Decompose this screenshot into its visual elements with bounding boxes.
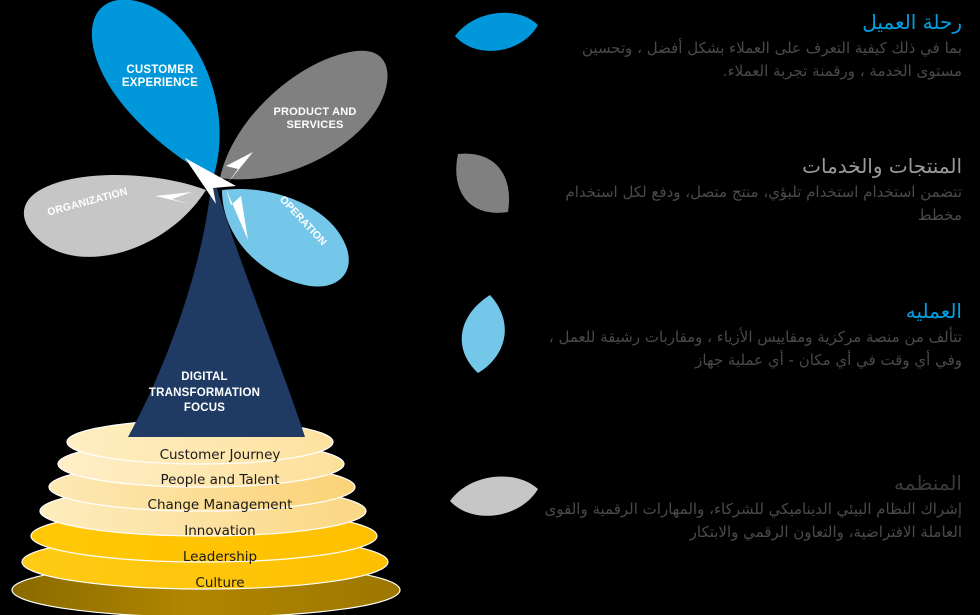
- legend-desc-operation: تتألف من منصة مركزية ومقاييس الأزياء ، و…: [537, 326, 962, 372]
- lens-horizontal-lightgray-icon: [446, 469, 542, 525]
- maturity-stack: [12, 420, 400, 615]
- legend-desc-products-and-services: تتضمن استخدام استخدام تلبؤي، منتج متصل، …: [537, 181, 962, 227]
- lens-tilted-lightblue-icon: [448, 293, 530, 379]
- lens-horizontal-blue-icon: [452, 6, 542, 61]
- legend-item-products-and-services[interactable]: المنتجات والخدمات تتضمن استخدام استخدام …: [440, 140, 980, 285]
- legend-item-operation[interactable]: العمليه تتألف من منصة مركزية ومقاييس الأ…: [440, 285, 980, 455]
- lens-tilted-gray-icon: [448, 148, 526, 226]
- legend-text-products-and-services: المنتجات والخدمات تتضمن استخدام استخدام …: [537, 154, 962, 227]
- legend-text-operation: العمليه تتألف من منصة مركزية ومقاييس الأ…: [537, 299, 962, 372]
- legend-panel: رحلة العميل بما في ذلك كيفية التعرف على …: [440, 0, 980, 615]
- legend-text-organization: المنظمه إشراك النظام البيئي الديناميكي ل…: [537, 471, 962, 544]
- petal-customer-experience[interactable]: [92, 0, 220, 178]
- legend-title-organization: المنظمه: [537, 471, 962, 496]
- legend-item-customer-journey[interactable]: رحلة العميل بما في ذلك كيفية التعرف على …: [440, 0, 980, 140]
- petal-organization[interactable]: [24, 175, 206, 257]
- legend-text-customer-journey: رحلة العميل بما في ذلك كيفية التعرف على …: [537, 10, 962, 83]
- legend-item-organization[interactable]: المنظمه إشراك النظام البيئي الديناميكي ل…: [440, 455, 980, 615]
- legend-title-products-and-services: المنتجات والخدمات: [537, 154, 962, 179]
- petal-diagram: CUSTOMER EXPERIENCE PRODUCT AND SERVICES…: [0, 0, 440, 615]
- legend-title-operation: العمليه: [537, 299, 962, 324]
- infographic-root: CUSTOMER EXPERIENCE PRODUCT AND SERVICES…: [0, 0, 980, 615]
- diagram-svg: [0, 0, 440, 615]
- legend-title-customer-journey: رحلة العميل: [537, 10, 962, 35]
- legend-desc-customer-journey: بما في ذلك كيفية التعرف على العملاء بشكل…: [537, 37, 962, 83]
- legend-desc-organization: إشراك النظام البيئي الديناميكي للشركاء، …: [537, 498, 962, 544]
